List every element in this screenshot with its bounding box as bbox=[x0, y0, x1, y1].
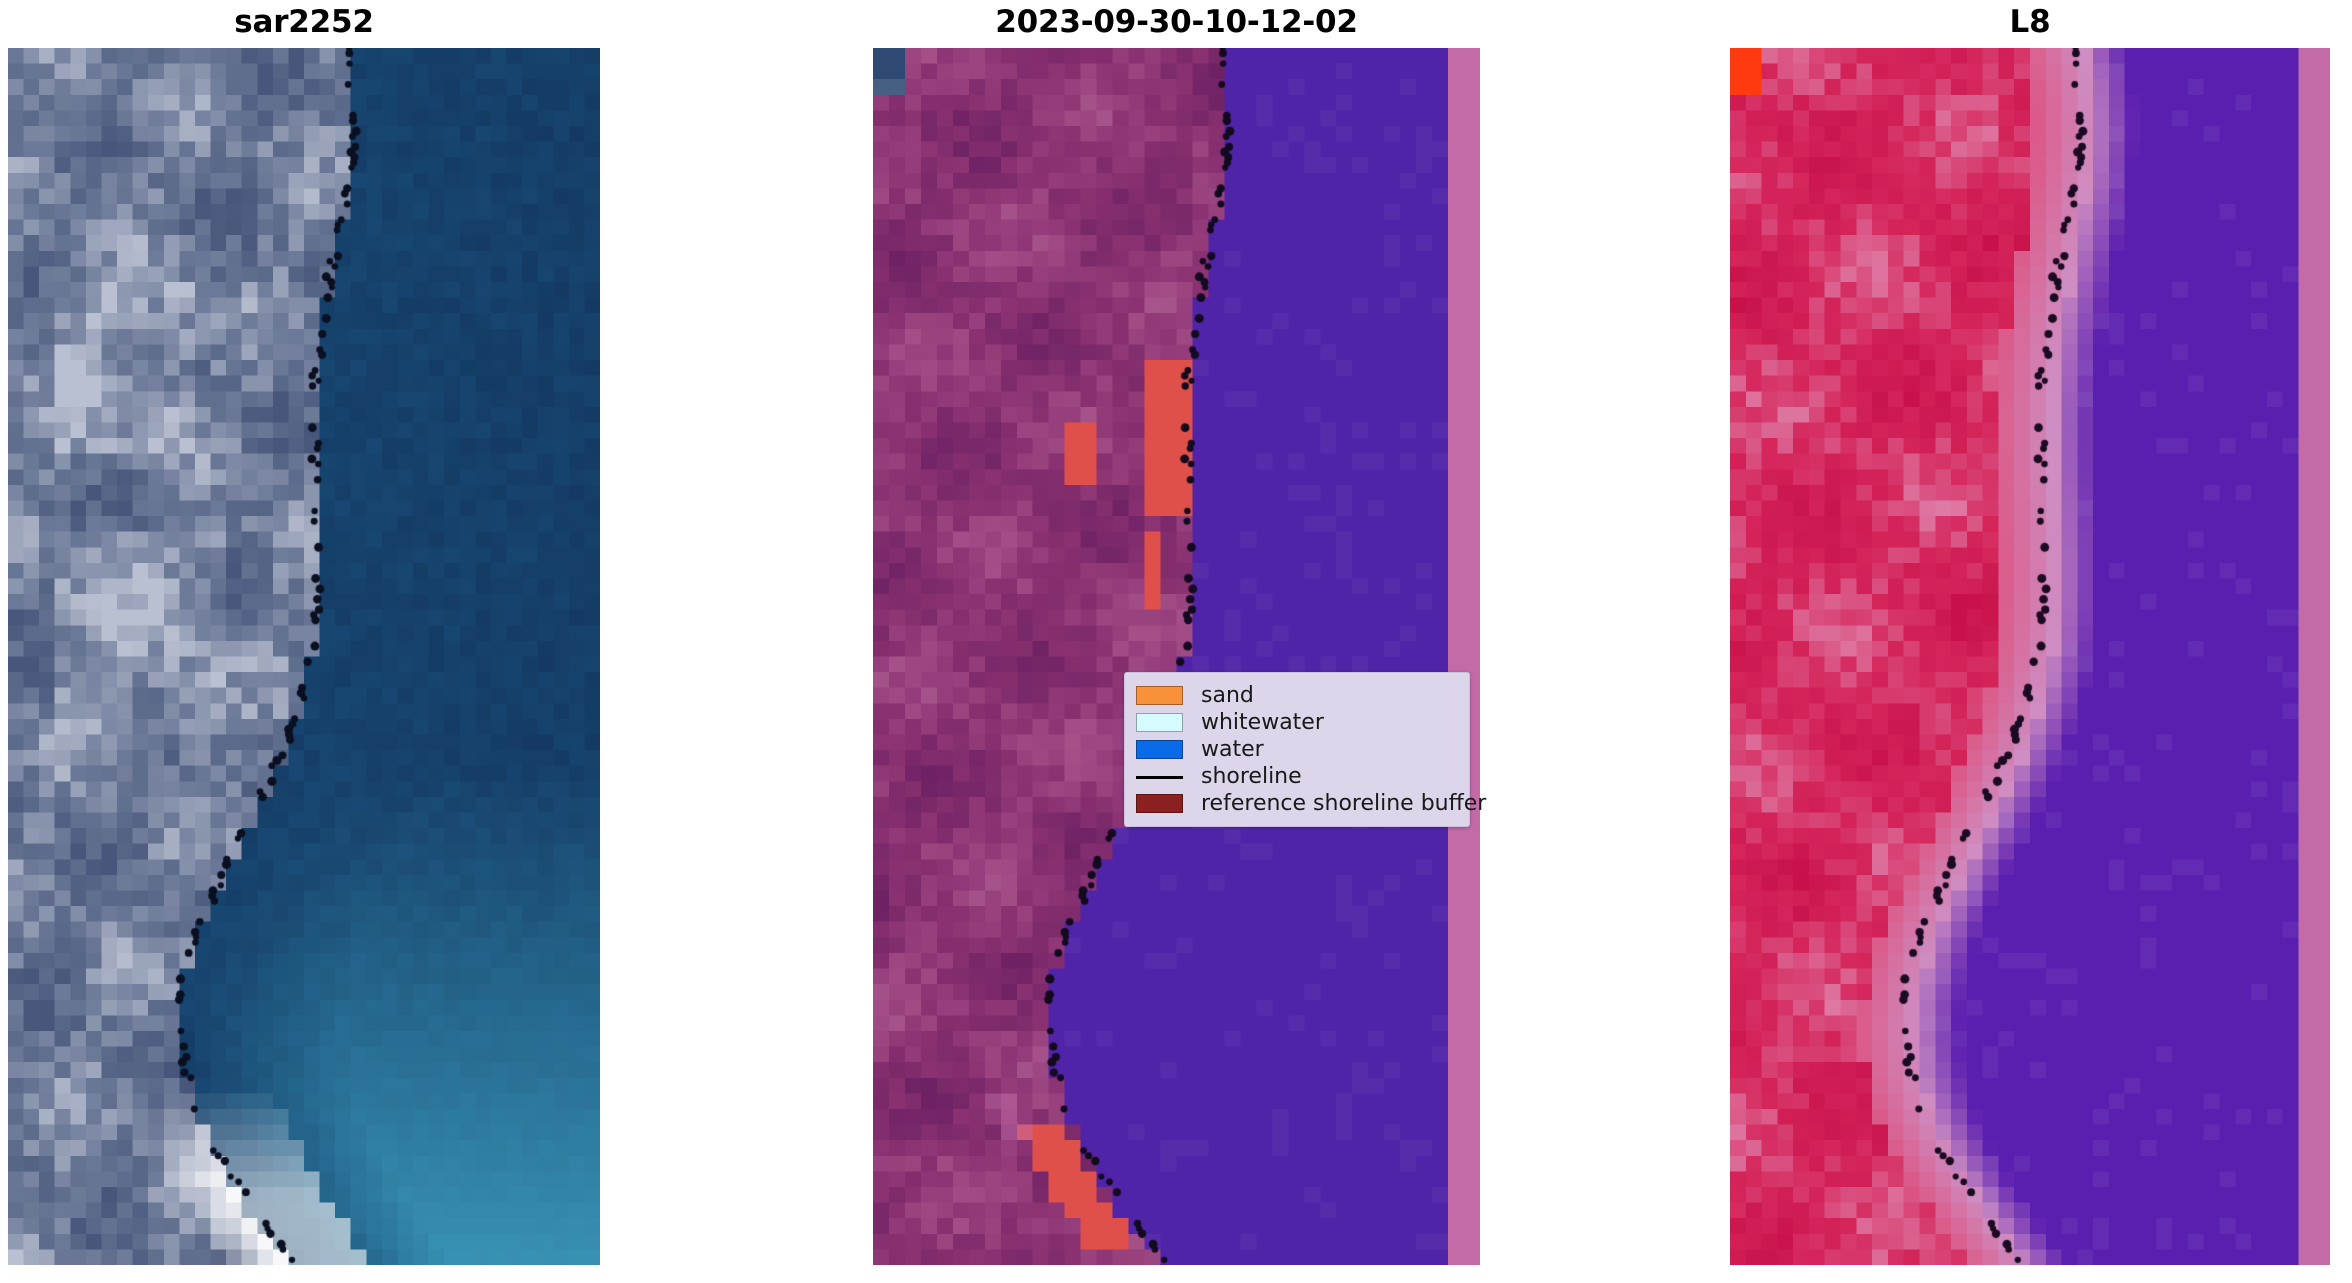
legend-swatch-water bbox=[1136, 740, 1183, 759]
panel-rgb[interactable] bbox=[873, 48, 1480, 1265]
legend-item-sand: sand bbox=[1136, 682, 1459, 709]
legend-label-shoreline: shoreline bbox=[1201, 764, 1302, 789]
legend-label-whitewater: whitewater bbox=[1201, 710, 1324, 735]
figure-root: sar2252 2023-09-30-10-12-02 L8 sand whit… bbox=[0, 0, 2352, 1283]
legend-item-shoreline: shoreline bbox=[1136, 763, 1459, 790]
panel-title-sar: sar2252 bbox=[8, 2, 600, 46]
legend-swatch-whitewater bbox=[1136, 713, 1183, 732]
legend-box: sand whitewater water shoreline referenc… bbox=[1124, 672, 1470, 827]
legend-label-reference-buffer: reference shoreline buffer bbox=[1201, 791, 1486, 816]
panel-sar[interactable] bbox=[8, 48, 600, 1265]
legend-swatch-shoreline bbox=[1136, 776, 1183, 779]
legend-item-reference-buffer: reference shoreline buffer bbox=[1136, 790, 1459, 817]
sar-raster-image bbox=[8, 48, 600, 1265]
rgb-raster-image bbox=[873, 48, 1480, 1265]
panel-l8[interactable] bbox=[1730, 48, 2330, 1265]
legend-label-sand: sand bbox=[1201, 683, 1254, 708]
legend-item-whitewater: whitewater bbox=[1136, 709, 1459, 736]
l8-raster-image bbox=[1730, 48, 2330, 1265]
legend-swatch-sand bbox=[1136, 686, 1183, 705]
legend-label-water: water bbox=[1201, 737, 1264, 762]
panel-title-rgb: 2023-09-30-10-12-02 bbox=[873, 2, 1480, 46]
legend-swatch-reference-buffer bbox=[1136, 794, 1183, 813]
panel-title-l8: L8 bbox=[1730, 2, 2330, 46]
legend-item-water: water bbox=[1136, 736, 1459, 763]
